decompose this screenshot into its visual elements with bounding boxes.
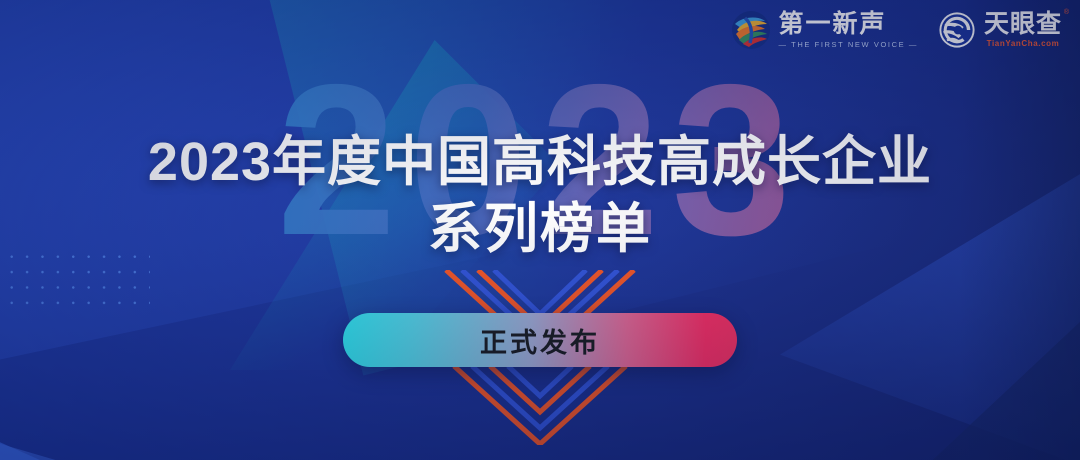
release-cta-label: 正式发布 — [480, 321, 600, 360]
tianyancha-cn: 天眼查 — [984, 11, 1062, 38]
headline-line-1: 2023年度中国高科技高成长企业 — [0, 132, 1080, 192]
logo-bar: 第一新声 — THE FIRST NEW VOICE — 天眼查 TianYan… — [731, 10, 1062, 50]
headline-line-2: 系列榜单 — [0, 198, 1080, 260]
bg-right-edge-shade — [960, 0, 1080, 460]
tianyancha-wordmark: 天眼查 TianYanCha.com ® — [984, 11, 1062, 49]
eye-aperture-icon — [938, 11, 976, 49]
first-new-voice-wordmark: 第一新声 — THE FIRST NEW VOICE — — [779, 11, 918, 50]
first-new-voice-cn: 第一新声 — [779, 11, 918, 38]
first-new-voice-tagline: — THE FIRST NEW VOICE — — [779, 39, 918, 50]
year-watermark: 2023 — [0, 52, 1080, 267]
swirl-globe-icon — [731, 10, 771, 50]
logo-tianyancha[interactable]: 天眼查 TianYanCha.com ® — [938, 11, 1062, 49]
bg-vignette — [0, 0, 1080, 460]
registered-trademark-icon: ® — [1064, 9, 1069, 16]
dot-grid-pattern — [0, 245, 150, 307]
bg-facet-bottom-right-dark — [890, 200, 1080, 460]
bg-facet-bottom-right — [780, 150, 1080, 460]
page-title: 2023年度中国高科技高成长企业 系列榜单 — [0, 132, 1080, 260]
logo-first-new-voice[interactable]: 第一新声 — THE FIRST NEW VOICE — — [731, 10, 918, 50]
bg-facet-bottom-left — [0, 290, 400, 460]
tianyancha-domain: TianYanCha.com — [984, 38, 1062, 49]
promo-banner: 2023 2023年度中国高科技高成长企业 系列榜单 正式发布 — [0, 0, 1080, 460]
release-cta-button[interactable]: 正式发布 — [343, 313, 737, 367]
bg-facet-bottom-left-light — [0, 360, 260, 460]
